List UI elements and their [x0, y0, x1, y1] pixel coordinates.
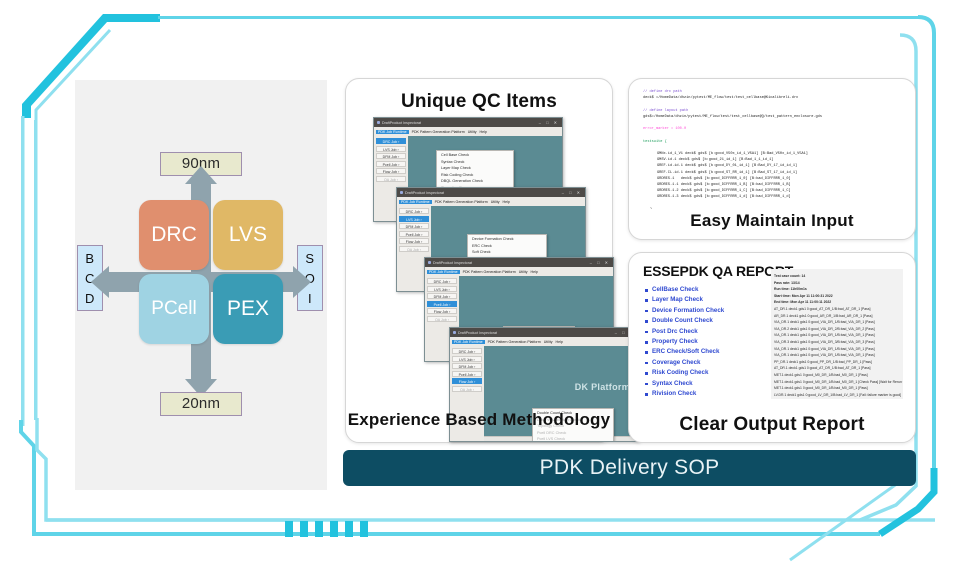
platform-brand-text: DK Platform	[575, 382, 630, 392]
job-tab-pcell-job[interactable]: Pcell Job ›	[427, 301, 457, 307]
qa-check-list: CellBase CheckLayer Map CheckDevice Form…	[645, 285, 765, 399]
menu-item[interactable]: Utility	[519, 270, 528, 274]
report-result-row: AR_DR.1 deck1 gds1 0:good_AR_DR_1/B:bad_…	[774, 313, 900, 320]
menu-item[interactable]: Utility	[468, 130, 477, 134]
job-tab-flow-job[interactable]: Flow Job ›	[427, 308, 457, 314]
clear-output-report-card: ESSEPDK QA REPORT CellBase CheckLayer Ma…	[628, 252, 916, 443]
menu-option[interactable]: Pcell LVS Check	[533, 436, 613, 442]
qa-check-item[interactable]: Property Check	[645, 337, 765, 347]
report-summary-line: Start time: Mon Apr 11 11:00:31 2022	[774, 293, 900, 300]
menu-item[interactable]: Utility	[544, 340, 553, 344]
job-tab-dfm-job[interactable]: DFM Job ›	[427, 293, 457, 299]
job-tab-lvs-job[interactable]: LVS Job ›	[452, 356, 482, 362]
menu-item[interactable]: Help	[556, 340, 563, 344]
quadrant-lvs[interactable]: LVS	[213, 200, 283, 270]
window-menubar[interactable]: PDK Job RuntimePDK Pattern Generation Pl…	[425, 267, 613, 276]
quadrant-diagram: 90nm B C D S O I DRC LVS PCell PEX 20nm	[75, 140, 327, 430]
menu-item-pdk-job-runtime[interactable]: PDK Job Runtime	[452, 340, 485, 344]
report-result-row: VIA_DR.1 deck1 gds1 0:good_VIA_DR_1/B:ba…	[774, 332, 900, 339]
window-menubar[interactable]: PDK Job RuntimePDK Pattern Generation Pl…	[374, 127, 562, 136]
job-tab-pcell-job[interactable]: Pcell Job ›	[452, 371, 482, 377]
frame-dashes	[285, 521, 368, 537]
report-result-row: MET.1 deck1 gds1 0:good_M0_DR_1/B:bad_M0…	[774, 372, 900, 379]
menu-item[interactable]: Utility	[491, 200, 500, 204]
job-tab-pcell-job[interactable]: Pcell Job ›	[399, 231, 429, 237]
menu-item[interactable]: PDK Pattern Generation Platform	[488, 340, 541, 344]
window-titlebar: DraftProduct Inspectorat– □ ✕	[374, 118, 562, 127]
qa-check-item[interactable]: Layer Map Check	[645, 295, 765, 305]
job-tab-flow-job[interactable]: Flow Job ›	[452, 378, 482, 384]
app-icon	[428, 261, 431, 264]
node-label-bottom: 20nm	[160, 392, 242, 416]
report-summary-line: End time: Mon Apr 11 11:00:11 2022	[774, 299, 900, 306]
window-controls[interactable]: – □ ✕	[590, 260, 610, 265]
app-icon	[453, 331, 456, 334]
report-result-row: LV.DR.1 deck1 gds1 0:good_LV_DR_1/B:bad_…	[774, 392, 900, 399]
job-tab-drc-job[interactable]: DRC Job ›	[427, 278, 457, 284]
quadrant-pcell[interactable]: PCell	[139, 274, 209, 344]
qa-check-item[interactable]: Post Drc Check	[645, 327, 765, 337]
menu-item[interactable]: Help	[480, 130, 487, 134]
window-menubar[interactable]: PDK Job RuntimePDK Pattern Generation Pl…	[450, 337, 638, 346]
report-result-row: PP_DR.1 deck1 gds1 0:good_PP_DR_1/B:bad_…	[774, 359, 900, 366]
report-result-row: MET.1 deck1 gds1 0:good_M0_DR_1/B:bad_M0…	[774, 385, 900, 392]
job-tab-drc-job[interactable]: DRC Job ›	[452, 348, 482, 354]
qa-check-item[interactable]: Rivision Check	[645, 389, 765, 399]
job-tab-drc-job[interactable]: DRC Job ›	[399, 208, 429, 214]
menu-item-pdk-job-runtime[interactable]: PDK Job Runtime	[399, 200, 432, 204]
window-title: DraftProduct Inspectorat	[433, 261, 588, 265]
report-result-row: AT_DR.1 deck1 gds1 0:good_AT_DR_1/B:bad_…	[774, 306, 900, 313]
window-titlebar: DraftProduct Inspectorat– □ ✕	[397, 188, 585, 197]
window-controls[interactable]: – □ ✕	[562, 190, 582, 195]
easy-maintain-input-card: // define drc pathdeck$ =/HomeData/dhzin…	[628, 78, 916, 240]
qa-check-item[interactable]: Double Count Check	[645, 316, 765, 326]
report-summary-line: Run time: 11h00m1s	[774, 286, 900, 293]
report-result-row: MET.1 deck1 gds1 0:good_M0_DR_1/B:bad_M0…	[774, 379, 900, 386]
report-result-row: AT_DR.1 deck1 gds1 0:good_AT_DR_1/B:bad_…	[774, 365, 900, 372]
report-summary-line: Test case count: 14	[774, 273, 900, 280]
menu-item[interactable]: PDK Pattern Generation Platform	[463, 270, 516, 274]
qa-check-item[interactable]: Device Formation Check	[645, 306, 765, 316]
window-titlebar: DraftProduct Inspectorat– □ ✕	[425, 258, 613, 267]
pdk-delivery-sop-banner: PDK Delivery SOP	[343, 450, 916, 486]
app-icon	[377, 121, 380, 124]
report-result-row: VIA_DR.1 deck1 gds1 0:good_VIA_DR_1/B:ba…	[774, 346, 900, 353]
window-title: DraftProduct Inspectorat	[458, 331, 613, 335]
job-tab-lvs-job[interactable]: LVS Job ›	[399, 216, 429, 222]
qa-check-item[interactable]: CellBase Check	[645, 285, 765, 295]
window-menubar[interactable]: PDK Job RuntimePDK Pattern Generation Pl…	[397, 197, 585, 206]
job-tab-lvs-job[interactable]: LVS Job ›	[376, 146, 406, 152]
menu-item[interactable]: PDK Pattern Generation Platform	[435, 200, 488, 204]
job-tab-qa-job[interactable]: QA Job ›	[427, 316, 457, 322]
qa-check-item[interactable]: ERC Check/Soft Check	[645, 347, 765, 357]
qa-result-table: Test case count: 14Pass rate: 13/14Run t…	[771, 269, 903, 399]
window-titlebar: DraftProduct Inspectorat– □ ✕	[450, 328, 638, 337]
menu-item-pdk-job-runtime[interactable]: PDK Job Runtime	[427, 270, 460, 274]
report-result-row: VIA_DR.1 deck1 gds1 0:good_VIA_DR_1/B:ba…	[774, 319, 900, 326]
job-tab-qa-job[interactable]: QA Job ›	[452, 386, 482, 392]
app-icon	[400, 191, 403, 194]
report-result-row: VIA_DR.3 deck1 gds1 0:good_VIA_DR_3/B:ba…	[774, 339, 900, 346]
qa-check-item[interactable]: Coverage Check	[645, 358, 765, 368]
window-controls[interactable]: – □ ✕	[539, 120, 559, 125]
report-card-caption: Clear Output Report	[629, 414, 915, 436]
window-title: DraftProduct Inspectorat	[405, 191, 560, 195]
qa-check-item[interactable]: Syntax Check	[645, 379, 765, 389]
job-tab-qa-job[interactable]: QA Job ›	[399, 246, 429, 252]
code-snippet: // define drc pathdeck$ =/HomeData/dhzin…	[643, 89, 901, 209]
quadrant-pex[interactable]: PEX	[213, 274, 283, 344]
code-card-caption: Easy Maintain Input	[629, 211, 915, 231]
job-tab-qa-job[interactable]: QA Job ›	[376, 176, 406, 182]
job-tab-pcell-job[interactable]: Pcell Job ›	[376, 161, 406, 167]
menu-item[interactable]: Help	[503, 200, 510, 204]
menu-item[interactable]: PDK Pattern Generation Platform	[412, 130, 465, 134]
qc-card-title: Unique QC Items	[346, 91, 612, 113]
qa-check-item[interactable]: Risk Coding Check	[645, 368, 765, 378]
menu-item[interactable]: Help	[531, 270, 538, 274]
code-line: }	[643, 207, 901, 209]
unique-qc-items-card: Unique QC Items DraftProduct Inspectorat…	[345, 78, 613, 443]
job-tab-dfm-job[interactable]: DFM Job ›	[452, 363, 482, 369]
job-tab-flow-job[interactable]: Flow Job ›	[376, 168, 406, 174]
job-tab-flow-job[interactable]: Flow Job ›	[399, 238, 429, 244]
job-tab-lvs-job[interactable]: LVS Job ›	[427, 286, 457, 292]
report-result-row: VIA_DR.2 deck1 gds1 0:good_VIA_DR_2/B:ba…	[774, 326, 900, 333]
qc-card-caption: Experience Based Methodology	[346, 410, 612, 430]
job-tab-dfm-job[interactable]: DFM Job ›	[399, 223, 429, 229]
report-result-row: VIA_DR.1 deck1 gds1 0:good_VIA_DR_1/B:ba…	[774, 352, 900, 359]
window-title: DraftProduct Inspectorat	[382, 121, 537, 125]
quadrant-drc[interactable]: DRC	[139, 200, 209, 270]
report-summary-line: Pass rate: 13/14	[774, 280, 900, 287]
job-tab-dfm-job[interactable]: DFM Job ›	[376, 153, 406, 159]
job-tab-drc-job[interactable]: DRC Job ›	[376, 138, 406, 144]
menu-item-pdk-job-runtime[interactable]: PDK Job Runtime	[376, 130, 409, 134]
